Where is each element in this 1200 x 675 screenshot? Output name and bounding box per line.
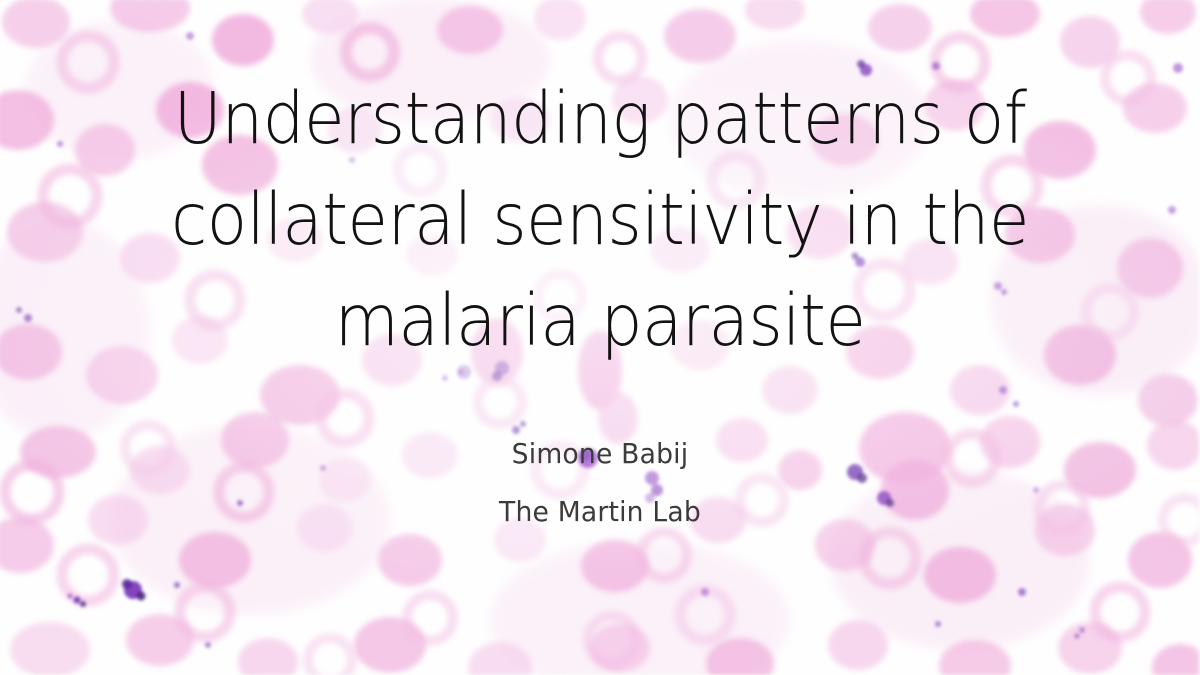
- title-line-3: malaria parasite: [42, 270, 1158, 371]
- title-slide: Understanding patterns of collateral sen…: [0, 0, 1200, 675]
- slide-title: Understanding patterns of collateral sen…: [0, 68, 1200, 371]
- slide-text-layer: Understanding patterns of collateral sen…: [0, 0, 1200, 675]
- slide-subtitle: Simone Babij The Martin Lab: [0, 425, 1200, 541]
- title-line-2: collateral sensitivity in the: [42, 169, 1158, 270]
- lab-affiliation: The Martin Lab: [30, 483, 1170, 541]
- title-line-1: Understanding patterns of: [42, 68, 1158, 169]
- presenter-name: Simone Babij: [30, 425, 1170, 483]
